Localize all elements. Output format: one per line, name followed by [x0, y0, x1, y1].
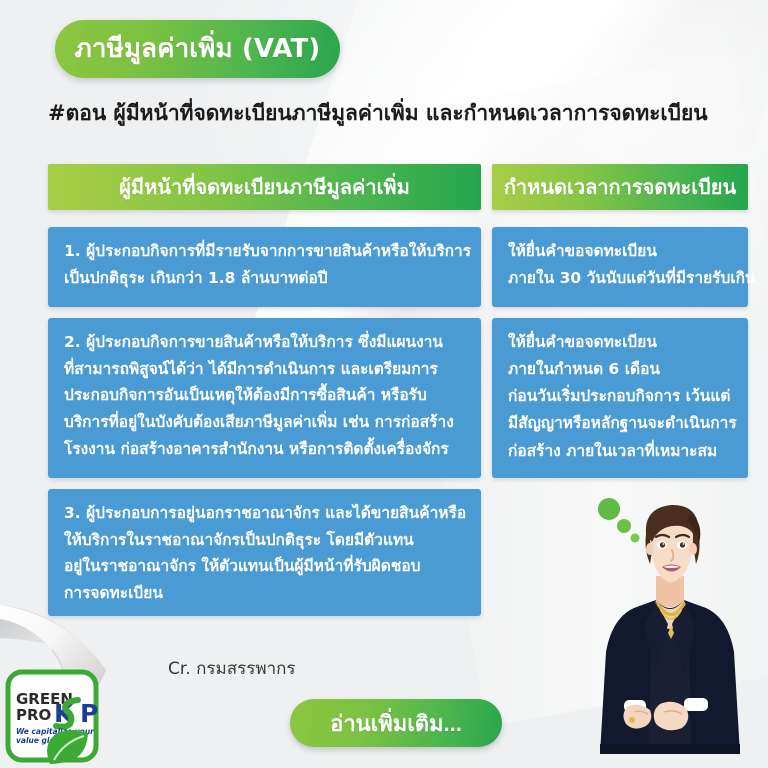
card-line: ก่อนวันเริ่มประกอบกิจการ เว้นแต่ — [508, 383, 732, 410]
card-line: 1. ผู้ประกอบกิจการที่มีรายรับจากการขายสิ… — [64, 238, 465, 265]
read-more-label: อ่านเพิ่มเติม... — [330, 706, 462, 741]
info-card-left-3: 3. ผู้ประกอบการอยู่นอกราชอาณาจักร และได้… — [48, 489, 481, 616]
page-title: ภาษีมูลค่าเพิ่ม (VAT) — [75, 36, 321, 62]
info-card-left-1: 1. ผู้ประกอบกิจการที่มีรายรับจากการขายสิ… — [48, 227, 481, 307]
thought-bubble-small — [631, 534, 640, 543]
read-more-button[interactable]: อ่านเพิ่มเติม... — [290, 699, 502, 747]
info-card-left-2: 2. ผู้ประกอบกิจการขายสินค้าหรือให้บริการ… — [48, 318, 481, 478]
column-header-left-label: ผู้มีหน้าที่จดทะเบียนภาษีมูลค่าเพิ่ม — [119, 171, 410, 203]
card-line: การจดทะเบียน — [64, 580, 465, 607]
card-line: ภายใน 30 วันนับแต่วันที่มีรายรับเกิน — [508, 265, 732, 292]
info-card-right-2: ให้ยื่นคำขอจดทะเบียน ภายในกำหนด 6 เดือน … — [492, 318, 748, 478]
ring — [629, 717, 635, 723]
column-header-left: ผู้มีหน้าที่จดทะเบียนภาษีมูลค่าเพิ่ม — [48, 164, 481, 210]
title-pill: ภาษีมูลค่าเพิ่ม (VAT) — [55, 20, 340, 78]
column-header-right-label: กำหนดเวลาการจดทะเบียน — [504, 171, 736, 203]
card-line: ที่สามารถพิสูจน์ได้ว่า ได้มีการดำเนินการ… — [64, 356, 465, 383]
card-line: ประกอบกิจการอันเป็นเหตุให้ต้องมีการซื้อส… — [64, 382, 465, 409]
subtitle: #ตอน ผู้มีหน้าที่จดทะเบียนภาษีมูลค่าเพิ่… — [48, 100, 748, 126]
card-line: บริการที่อยู่ในบังคับต้องเสียภาษีมูลค่าเ… — [64, 409, 465, 436]
card-line: โรงงาน ก่อสร้างอาคารสำนักงาน หรือการติดต… — [64, 436, 465, 463]
logo-p-mark: P — [80, 699, 98, 728]
card-line: ให้ยื่นคำขอจดทะเบียน — [508, 329, 732, 356]
column-header-right: กำหนดเวลาการจดทะเบียน — [492, 164, 748, 210]
thought-bubble-large — [598, 498, 620, 520]
credit-text: Cr. กรมสรรพากร — [168, 655, 296, 682]
card-line: ให้บริการในราชอาณาจักรเป็นปกติธุระ โดยมี… — [64, 527, 465, 554]
card-line: ภายในกำหนด 6 เดือน — [508, 356, 732, 383]
greenpro-ksp-logo: GREEN PRO K P We capitalize your value g… — [4, 668, 100, 764]
card-line: ให้ยื่นคำขอจดทะเบียน — [508, 238, 732, 265]
info-card-right-1: ให้ยื่นคำขอจดทะเบียน ภายใน 30 วันนับแต่ว… — [492, 227, 748, 307]
thought-bubble-medium — [617, 519, 631, 533]
card-line: ก่อสร้าง ภายในเวลาที่เหมาะสม — [508, 438, 732, 465]
businesswoman-illustration — [572, 492, 768, 768]
card-line: 2. ผู้ประกอบกิจการขายสินค้าหรือให้บริการ… — [64, 329, 465, 356]
card-line: 3. ผู้ประกอบการอยู่นอกราชอาณาจักร และได้… — [64, 500, 465, 527]
logo-pro-text: PRO — [16, 706, 51, 724]
card-line: มีสัญญาหรือหลักฐานจะดำเนินการ — [508, 410, 732, 437]
card-line: เป็นปกติธุระ เกินกว่า 1.8 ล้านบาทต่อปี — [64, 265, 465, 292]
card-line: อยู่ในราชอาณาจักร ให้ตัวแทนเป็นผู้มีหน้า… — [64, 553, 465, 580]
infographic-page: ภาษีมูลค่าเพิ่ม (VAT) #ตอน ผู้มีหน้าที่จ… — [0, 0, 768, 768]
